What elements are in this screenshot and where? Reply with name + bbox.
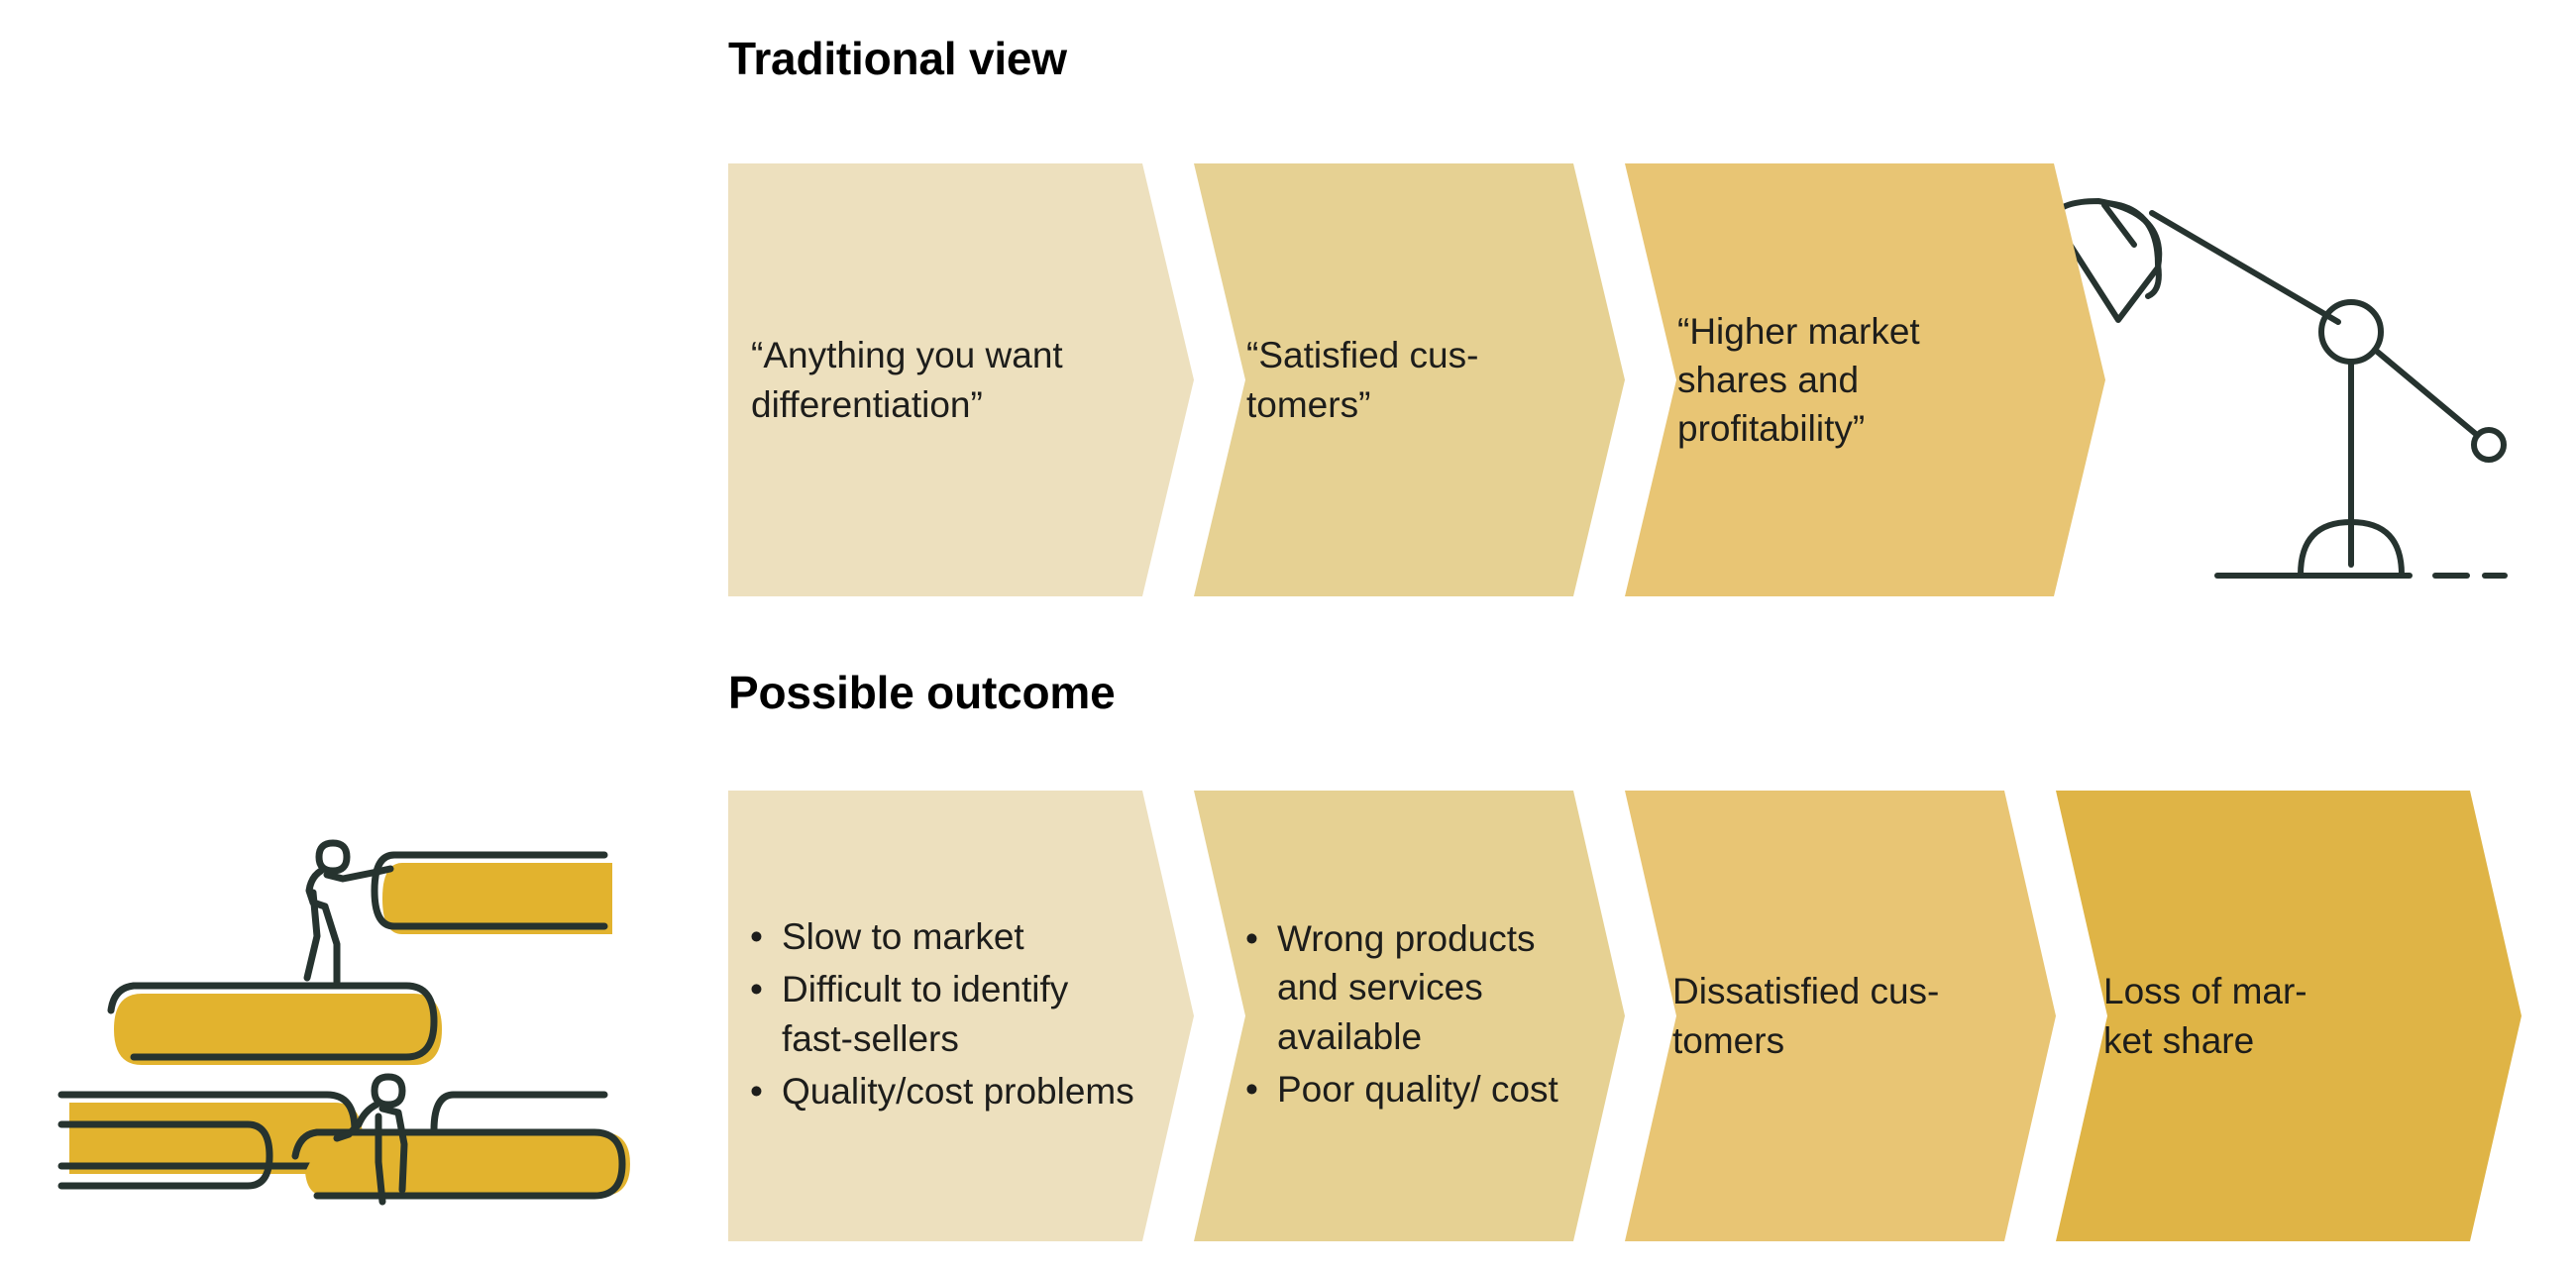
process-row-traditional: “Anything you want differentiation” “Sat…	[728, 163, 2095, 596]
shelf-stocking-icon	[10, 797, 644, 1214]
list-item: Difficult to identify fast-sellers	[746, 965, 1139, 1062]
process-step-label: Dissatisfied cus- tomers	[1672, 967, 2006, 1064]
process-step-label: Loss of mar- ket share	[2103, 967, 2472, 1064]
process-step-label: “Satisfied cus- tomers”	[1246, 331, 1565, 428]
process-step-outcome-4[interactable]: Loss of mar- ket share	[2021, 791, 2522, 1241]
list-item: Wrong products and services available	[1241, 914, 1575, 1061]
process-step-outcome-3[interactable]: Dissatisfied cus- tomers	[1590, 791, 2056, 1241]
page-title-possible-outcome: Possible outcome	[728, 666, 1115, 719]
desk-lamp-icon	[2041, 173, 2536, 609]
list-item: Slow to market	[746, 912, 1139, 961]
process-step-outcome-2[interactable]: Wrong products and services available Po…	[1159, 791, 1625, 1241]
process-step-traditional-1[interactable]: “Anything you want differentiation”	[728, 163, 1194, 596]
process-step-label: “Higher market shares and profitability”	[1677, 307, 2046, 454]
process-step-outcome-1[interactable]: Slow to market Difficult to identify fas…	[728, 791, 1194, 1241]
process-step-traditional-3[interactable]: “Higher market shares and profitability”	[1590, 163, 2105, 596]
process-step-bullet-list: Wrong products and services available Po…	[1241, 914, 1575, 1114]
process-step-label: “Anything you want differentiation”	[751, 331, 1134, 428]
list-item: Quality/cost problems	[746, 1067, 1139, 1115]
page-title-traditional-view: Traditional view	[728, 32, 1067, 85]
process-step-traditional-2[interactable]: “Satisfied cus- tomers”	[1159, 163, 1625, 596]
process-step-bullet-list: Slow to market Difficult to identify fas…	[746, 912, 1139, 1115]
process-row-possible-outcome: Slow to market Difficult to identify fas…	[728, 791, 2522, 1241]
list-item: Poor quality/ cost	[1241, 1065, 1575, 1114]
